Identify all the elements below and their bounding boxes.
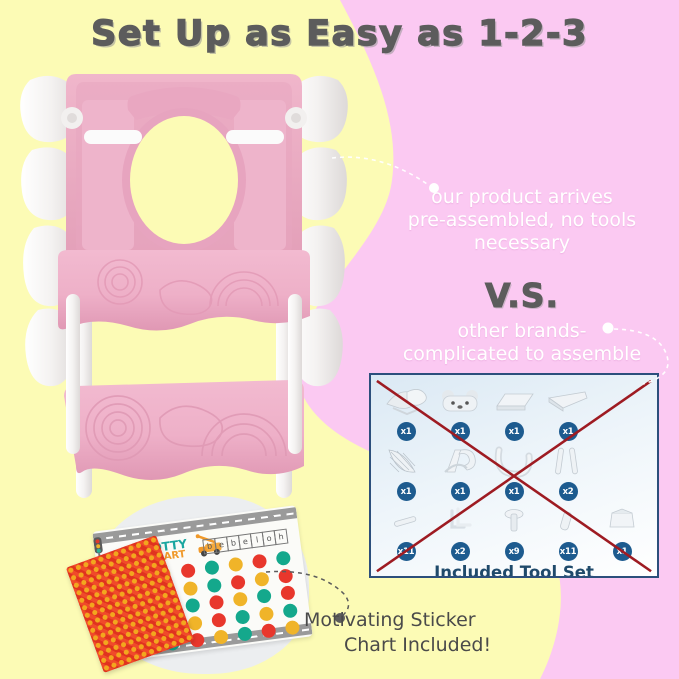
qty-badge: x1 <box>505 482 524 501</box>
tool-spacer-2 <box>595 441 649 501</box>
u-shaped-rail-icon <box>487 441 541 481</box>
sticker-dot <box>280 585 296 601</box>
qty-badge: x1 <box>559 422 578 441</box>
sticker-dot <box>230 574 246 590</box>
tool-item-angled-plate: x1 <box>541 381 595 441</box>
tool-item-bolt-screw: x9 <box>487 501 541 561</box>
clamp-bracket-icon <box>379 381 433 421</box>
small-pin-icon <box>379 501 433 541</box>
qty-badge: x1 <box>451 482 470 501</box>
caption-line-2: Chart Included! <box>300 633 630 658</box>
other-brands-line-1: other brands- <box>369 320 675 343</box>
sticker-dot <box>254 571 270 587</box>
qty-badge: x9 <box>505 542 524 561</box>
tool-item-bear-face-panel: x1 <box>433 381 487 441</box>
infographic-canvas: Set Up as Easy as 1-2-3 <box>0 0 679 679</box>
bolt-screw-icon <box>487 501 541 541</box>
sticker-dot <box>184 598 200 614</box>
sticker-chart-caption: Motivating Sticker Chart Included! <box>300 608 630 658</box>
sticker-dot <box>182 580 198 596</box>
toolbox-label: Included Tool Set <box>379 561 649 578</box>
sticker-dot <box>276 550 292 566</box>
qty-badge: x1 <box>397 422 416 441</box>
sticker-dot <box>278 568 294 584</box>
sticker-dot <box>206 577 222 593</box>
lower-step <box>64 380 304 480</box>
sticker-dot <box>261 623 277 639</box>
sticker-dot <box>283 602 299 618</box>
long-rods-pair-icon <box>541 441 595 481</box>
short-peg-icon <box>541 501 595 541</box>
tool-item-small-pin: x11 <box>379 501 433 561</box>
our-product-line-2: pre-assembled, no tools <box>372 209 672 232</box>
page-title: Set Up as Easy as 1-2-3 <box>0 14 679 54</box>
other-brands-text: other brands- complicated to assemble <box>369 320 675 366</box>
tool-spacer-1 <box>595 381 649 441</box>
our-product-text: our product arrives pre-assembled, no to… <box>372 186 672 256</box>
sticker-dot <box>232 591 248 607</box>
sticker-dot <box>180 563 196 579</box>
sticker-dot <box>285 620 301 636</box>
sticker-dot <box>256 588 272 604</box>
sticker-dot <box>252 553 268 569</box>
sticker-dot <box>204 560 220 576</box>
corner-cap-icon <box>595 501 649 541</box>
tool-item-u-shaped-rail: x1 <box>487 441 541 501</box>
tool-item-allen-key: x2 <box>433 501 487 561</box>
tool-item-mesh-net-panel: x1 <box>379 441 433 501</box>
sticker-dot <box>235 609 251 625</box>
sticker-dot <box>208 595 224 611</box>
tool-item-long-rods-pair: x2 <box>541 441 595 501</box>
mesh-net-panel-icon <box>379 441 433 481</box>
tool-item-frame-leg: x1 <box>433 441 487 501</box>
tool-item-flat-board: x1 <box>487 381 541 441</box>
sticker-dot <box>213 629 229 645</box>
included-tool-set-panel: x1 x1 <box>369 373 659 578</box>
tool-item-corner-cap: x1 <box>595 501 649 561</box>
product-image-potty-seat <box>14 58 354 528</box>
our-product-line-3: necessary <box>372 232 672 255</box>
tool-item-short-peg: x11 <box>541 501 595 561</box>
our-product-line-1: our product arrives <box>372 186 672 209</box>
sticker-dot <box>259 606 275 622</box>
upper-step <box>58 250 310 331</box>
qty-badge: x11 <box>397 542 416 561</box>
qty-badge: x11 <box>559 542 578 561</box>
qty-badge: x1 <box>505 422 524 441</box>
qty-badge: x2 <box>559 482 578 501</box>
tool-item-clamp-bracket: x1 <box>379 381 433 441</box>
sticker-dot <box>211 612 227 628</box>
qty-badge: x1 <box>397 482 416 501</box>
qty-badge: x1 <box>451 422 470 441</box>
angled-plate-icon <box>541 381 595 421</box>
bear-face-panel-icon <box>433 381 487 421</box>
name-letter: h <box>274 529 289 546</box>
sticker-dot <box>237 626 253 642</box>
tool-grid: x1 x1 <box>371 375 657 576</box>
sticker-dot <box>228 557 244 573</box>
qty-badge: x1 <box>613 542 632 561</box>
versus-label: V.S. <box>372 276 672 315</box>
allen-key-icon <box>433 501 487 541</box>
frame-leg-icon <box>433 441 487 481</box>
caption-line-1: Motivating Sticker <box>300 608 630 633</box>
qty-badge: x2 <box>451 542 470 561</box>
other-brands-line-2: complicated to assemble <box>369 343 675 366</box>
flat-board-icon <box>487 381 541 421</box>
